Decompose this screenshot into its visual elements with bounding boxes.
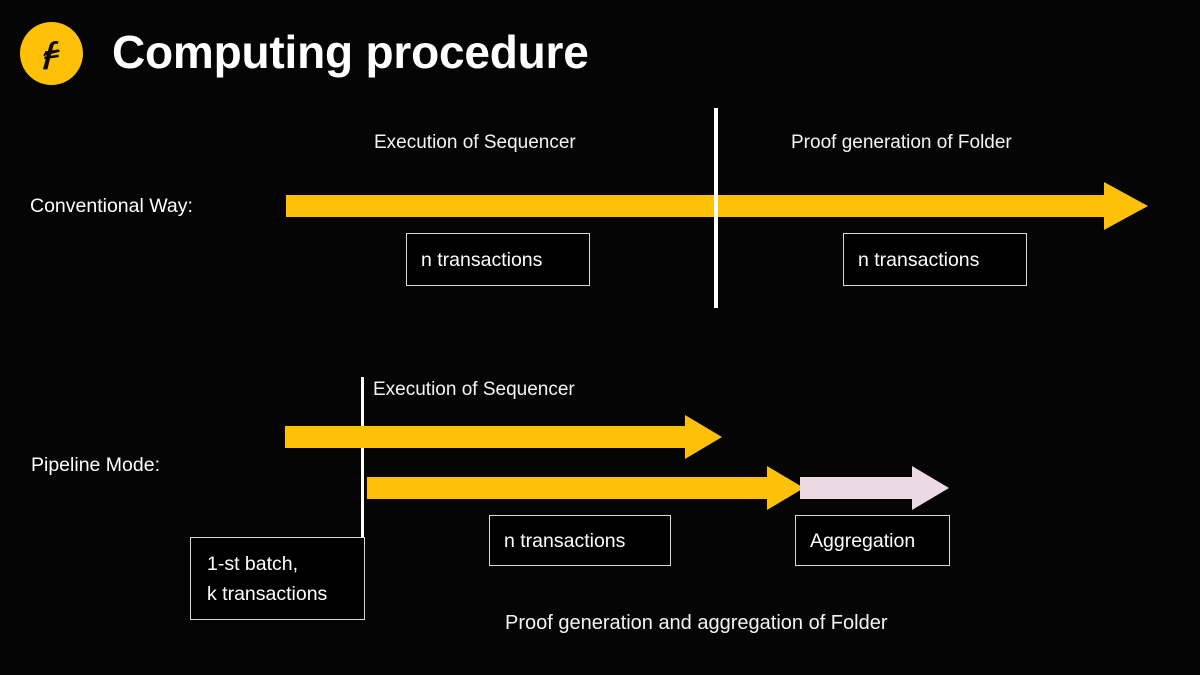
pipeline-caption: Proof generation and aggregation of Fold… — [505, 611, 888, 635]
filecoin-f-logo-icon — [20, 22, 83, 85]
pipeline-batch-box: 1-st batch, k transactions — [190, 537, 365, 620]
pipeline-aggregation-box: Aggregation — [795, 515, 950, 566]
conventional-right-transactions-text: n transactions — [858, 245, 1012, 275]
conventional-phase-divider — [714, 108, 718, 308]
pipeline-batch-line-2: k transactions — [207, 579, 348, 609]
page-title: Computing procedure — [112, 20, 589, 84]
pipeline-execution-arrow — [285, 415, 725, 459]
pipeline-transactions-box: n transactions — [489, 515, 671, 566]
pipeline-proof-arrow — [367, 466, 807, 510]
conventional-right-phase-label: Proof generation of Folder — [791, 131, 1012, 155]
conventional-right-transactions-box: n transactions — [843, 233, 1027, 286]
conventional-left-transactions-box: n transactions — [406, 233, 590, 286]
pipeline-aggregation-text: Aggregation — [810, 526, 935, 556]
conventional-row-label: Conventional Way: — [30, 194, 193, 218]
pipeline-transactions-text: n transactions — [504, 526, 656, 556]
pipeline-batch-line-1: 1-st batch, — [207, 549, 348, 579]
slide-canvas: Computing procedure Execution of Sequenc… — [0, 0, 1200, 675]
conventional-left-phase-label: Execution of Sequencer — [374, 131, 576, 155]
pipeline-phase-label: Execution of Sequencer — [373, 378, 575, 402]
pipeline-row-label: Pipeline Mode: — [31, 453, 160, 477]
conventional-left-transactions-text: n transactions — [421, 245, 575, 275]
conventional-timeline-arrow — [286, 182, 1156, 230]
pipeline-aggregation-arrow — [800, 466, 952, 510]
